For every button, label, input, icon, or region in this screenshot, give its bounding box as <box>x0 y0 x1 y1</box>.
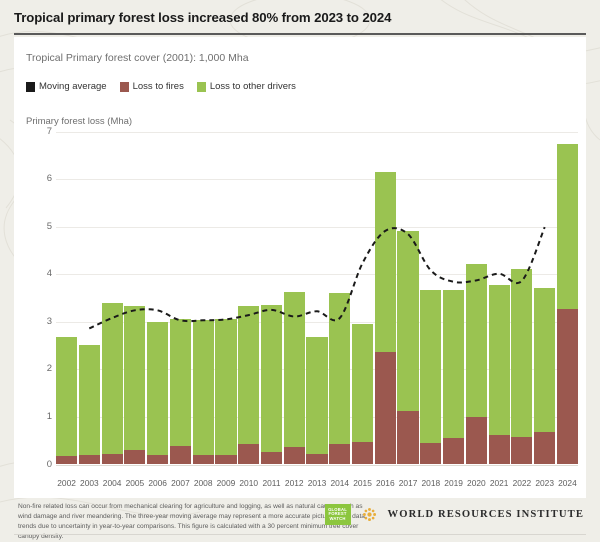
bar-segment-fires-2014 <box>329 444 350 464</box>
x-label-2007: 2007 <box>170 478 191 488</box>
footnote-text: Non-fire related loss can occur from mec… <box>18 502 368 542</box>
x-label-2021: 2021 <box>489 478 510 488</box>
x-label-2005: 2005 <box>124 478 145 488</box>
y-tick-4: 4 <box>38 268 52 279</box>
x-label-2002: 2002 <box>56 478 77 488</box>
legend-swatch-loss-to-other-drivers <box>197 82 206 92</box>
x-label-2009: 2009 <box>215 478 236 488</box>
x-label-2015: 2015 <box>352 478 373 488</box>
bar-2004[interactable] <box>102 131 123 464</box>
bar-2008[interactable] <box>193 131 214 464</box>
chart-page: Tropical primary forest loss increased 8… <box>0 0 600 535</box>
chart-legend: Moving average Loss to fires Loss to oth… <box>26 81 296 92</box>
chart-card: Tropical Primary forest cover (2001): 1,… <box>14 37 586 498</box>
bar-segment-other-2002 <box>56 337 77 456</box>
y-tick-3: 3 <box>38 316 52 327</box>
bar-2015[interactable] <box>352 131 373 464</box>
bar-2022[interactable] <box>511 131 532 464</box>
bar-segment-other-2016 <box>375 172 396 352</box>
x-label-2011: 2011 <box>261 478 282 488</box>
bar-segment-fires-2004 <box>102 454 123 464</box>
bar-segment-fires-2003 <box>79 455 100 464</box>
bar-segment-fires-2024 <box>557 309 578 464</box>
bar-segment-fires-2008 <box>193 455 214 465</box>
bar-segment-other-2006 <box>147 322 168 455</box>
bar-2021[interactable] <box>489 131 510 464</box>
bar-segment-fires-2009 <box>215 455 236 464</box>
bar-2006[interactable] <box>147 131 168 464</box>
chart-header: Tropical primary forest loss increased 8… <box>0 0 600 35</box>
bar-segment-fires-2021 <box>489 435 510 464</box>
y-tick-2: 2 <box>38 363 52 374</box>
bar-2012[interactable] <box>284 131 305 464</box>
bar-2016[interactable] <box>375 131 396 464</box>
bar-segment-other-2021 <box>489 285 510 435</box>
bar-segment-fires-2011 <box>261 452 282 464</box>
bar-segment-fires-2012 <box>284 447 305 464</box>
bar-segment-other-2024 <box>557 144 578 309</box>
plot-area: 01234567 <box>38 131 578 471</box>
bar-segment-other-2011 <box>261 305 282 452</box>
bar-segment-other-2017 <box>397 231 418 411</box>
x-label-2004: 2004 <box>102 478 123 488</box>
legend-item-loss-to-fires[interactable]: Loss to fires <box>120 81 184 92</box>
y-tick-7: 7 <box>38 126 52 137</box>
legend-swatch-loss-to-fires <box>120 82 129 92</box>
bar-segment-other-2005 <box>124 306 145 450</box>
global-forest-watch-logo: GLOBAL FOREST WATCH <box>325 504 351 525</box>
bar-series <box>56 131 578 464</box>
bar-segment-other-2008 <box>193 320 214 455</box>
bar-2010[interactable] <box>238 131 259 464</box>
bar-2024[interactable] <box>557 131 578 464</box>
bar-segment-fires-2019 <box>443 438 464 464</box>
bar-segment-fires-2022 <box>511 437 532 464</box>
x-label-2018: 2018 <box>420 478 441 488</box>
bar-2007[interactable] <box>170 131 191 464</box>
bar-segment-other-2022 <box>511 269 532 436</box>
wri-logo-text: WORLD RESOURCES INSTITUTE <box>388 509 584 520</box>
y-tick-0: 0 <box>38 459 52 470</box>
bar-segment-other-2003 <box>79 345 100 455</box>
bar-2017[interactable] <box>397 131 418 464</box>
x-label-2019: 2019 <box>443 478 464 488</box>
legend-label-loss-to-other-drivers: Loss to other drivers <box>210 81 296 92</box>
bar-2003[interactable] <box>79 131 100 464</box>
bar-segment-fires-2010 <box>238 444 259 464</box>
y-tick-6: 6 <box>38 173 52 184</box>
x-label-2012: 2012 <box>284 478 305 488</box>
legend-label-loss-to-fires: Loss to fires <box>133 81 184 92</box>
bar-2019[interactable] <box>443 131 464 464</box>
bar-segment-fires-2020 <box>466 417 487 464</box>
title-divider <box>14 33 586 35</box>
x-label-2014: 2014 <box>329 478 350 488</box>
gfw-line-3: WATCH <box>330 517 346 521</box>
bar-segment-fires-2013 <box>306 454 327 464</box>
bar-2018[interactable] <box>420 131 441 464</box>
x-label-2010: 2010 <box>238 478 259 488</box>
y-tick-1: 1 <box>38 411 52 422</box>
x-label-2024: 2024 <box>557 478 578 488</box>
bar-2023[interactable] <box>534 131 555 464</box>
bar-segment-fires-2002 <box>56 456 77 464</box>
page-title: Tropical primary forest loss increased 8… <box>14 10 586 26</box>
x-label-2020: 2020 <box>466 478 487 488</box>
bar-segment-other-2019 <box>443 290 464 437</box>
gridline-0 <box>56 465 578 466</box>
bar-segment-other-2004 <box>102 303 123 454</box>
legend-item-moving-average[interactable]: Moving average <box>26 81 107 92</box>
wri-logo-icon <box>361 506 378 523</box>
x-label-2013: 2013 <box>306 478 327 488</box>
legend-item-loss-to-other-drivers[interactable]: Loss to other drivers <box>197 81 296 92</box>
bar-segment-other-2014 <box>329 293 350 444</box>
bar-2020[interactable] <box>466 131 487 464</box>
bar-2013[interactable] <box>306 131 327 464</box>
x-label-2008: 2008 <box>193 478 214 488</box>
bar-segment-other-2007 <box>170 319 191 446</box>
footer-logos: GLOBAL FOREST WATCH WORLD RESOURCES INST… <box>325 504 584 525</box>
bar-segment-other-2013 <box>306 337 327 454</box>
x-label-2017: 2017 <box>397 478 418 488</box>
bar-segment-other-2018 <box>420 290 441 443</box>
x-label-2023: 2023 <box>534 478 555 488</box>
bar-segment-fires-2007 <box>170 446 191 464</box>
bar-segment-fires-2016 <box>375 352 396 464</box>
bar-segment-other-2009 <box>215 319 236 455</box>
x-label-2022: 2022 <box>511 478 532 488</box>
legend-swatch-moving-average <box>26 82 35 92</box>
bar-segment-other-2023 <box>534 288 555 432</box>
x-label-2006: 2006 <box>147 478 168 488</box>
bar-segment-fires-2017 <box>397 411 418 464</box>
bar-2005[interactable] <box>124 131 145 464</box>
bar-2011[interactable] <box>261 131 282 464</box>
bar-segment-fires-2015 <box>352 442 373 464</box>
bar-2014[interactable] <box>329 131 350 464</box>
x-label-2016: 2016 <box>375 478 396 488</box>
bar-2002[interactable] <box>56 131 77 464</box>
x-axis-labels: 2002200320042005200620072008200920102011… <box>56 478 578 488</box>
bar-2009[interactable] <box>215 131 236 464</box>
bar-segment-fires-2005 <box>124 450 145 464</box>
bar-segment-other-2012 <box>284 292 305 448</box>
bar-segment-fires-2023 <box>534 432 555 464</box>
legend-label-moving-average: Moving average <box>39 81 107 92</box>
chart-footer: Non-fire related loss can occur from mec… <box>14 502 586 535</box>
bar-segment-fires-2006 <box>147 455 168 464</box>
bar-segment-other-2020 <box>466 264 487 417</box>
y-tick-5: 5 <box>38 221 52 232</box>
bar-segment-other-2010 <box>238 306 259 444</box>
chart-subtitle: Tropical Primary forest cover (2001): 1,… <box>26 52 249 64</box>
x-label-2003: 2003 <box>79 478 100 488</box>
bar-segment-other-2015 <box>352 324 373 442</box>
bar-segment-fires-2018 <box>420 443 441 464</box>
